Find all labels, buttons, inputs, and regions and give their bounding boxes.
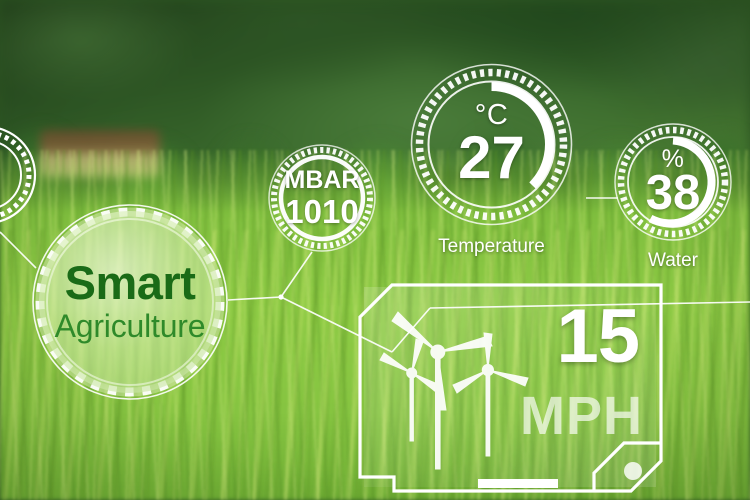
water-readout: % 38 — [613, 122, 733, 242]
pressure-value: 1010 — [285, 195, 358, 228]
pressure-readout: MBAR 1010 — [266, 142, 378, 254]
badge-line-1: Smart — [65, 259, 196, 306]
temperature-gauge[interactable]: °C 27 Temperature — [409, 62, 574, 227]
wind-panel-dot — [624, 462, 642, 480]
wind-turbine-icon — [380, 312, 528, 469]
wind-speed-value: 15 — [556, 299, 639, 375]
dashboard-scene: Smart Agriculture MBAR 1010 — [0, 0, 750, 500]
badge-line-2: Agriculture — [55, 308, 206, 345]
temperature-readout: °C 27 — [409, 62, 574, 227]
connector-badge-to-node — [228, 297, 281, 300]
smart-agriculture-badge[interactable]: Smart Agriculture — [30, 202, 230, 402]
water-gauge[interactable]: % 38 Water — [613, 122, 733, 242]
connector-node-to-pressure — [281, 252, 312, 297]
badge-text: Smart Agriculture — [30, 202, 230, 402]
temperature-value: 27 — [458, 128, 525, 188]
water-label: Water — [648, 250, 698, 272]
pressure-unit: MBAR — [285, 168, 360, 193]
hud-overlay: Smart Agriculture MBAR 1010 — [0, 0, 750, 500]
connector-node-dot — [278, 294, 283, 299]
wind-speed-unit: MPH — [520, 389, 643, 443]
wind-panel-bottom-bar — [478, 479, 558, 488]
pressure-gauge[interactable]: MBAR 1010 — [266, 142, 378, 254]
water-value: 38 — [646, 169, 701, 218]
temperature-label: Temperature — [438, 236, 545, 258]
wind-speed-panel[interactable]: 15 MPH — [358, 281, 663, 496]
